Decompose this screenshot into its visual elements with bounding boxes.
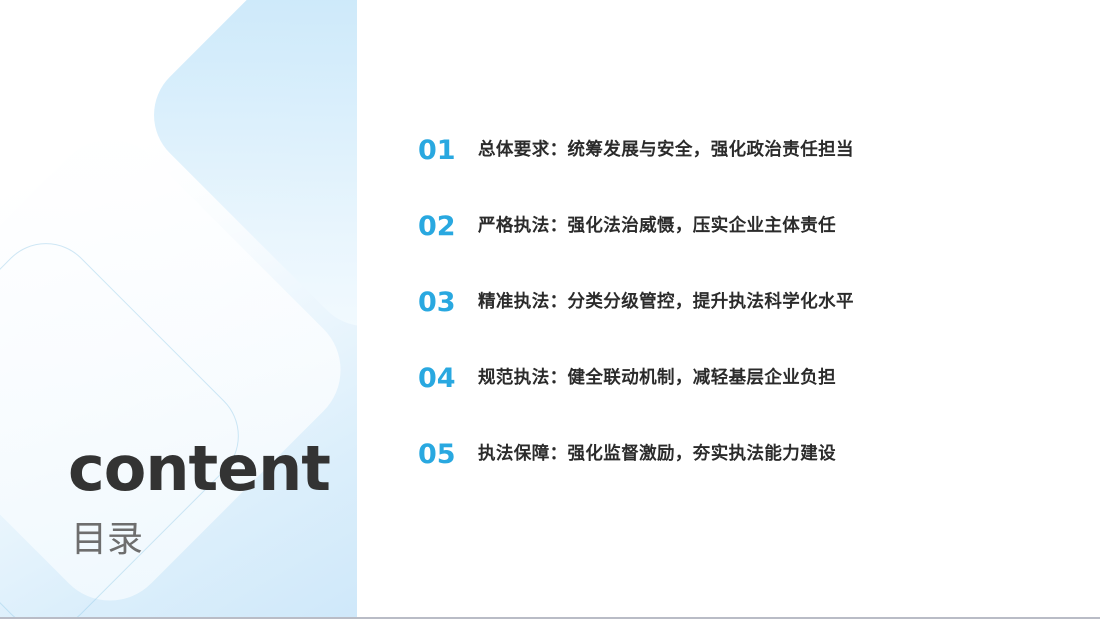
page-subtitle: 目录 bbox=[71, 522, 330, 558]
toc-number: 03 bbox=[418, 289, 478, 316]
toc-label: 规范执法：健全联动机制，减轻基层企业负担 bbox=[478, 368, 836, 389]
page-title: content bbox=[68, 438, 330, 500]
toc-number: 02 bbox=[418, 213, 478, 240]
toc-label: 精准执法：分类分级管控，提升执法科学化水平 bbox=[478, 292, 854, 313]
toc-item-04[interactable]: 04 规范执法：健全联动机制，减轻基层企业负担 bbox=[418, 340, 1038, 416]
left-decorative-panel: content 目录 bbox=[0, 0, 357, 618]
presentation-slide: content 目录 01 总体要求：统筹发展与安全，强化政治责任担当 02 严… bbox=[0, 0, 1100, 622]
table-of-contents: 01 总体要求：统筹发展与安全，强化政治责任担当 02 严格执法：强化法治威慑，… bbox=[418, 112, 1038, 492]
toc-item-03[interactable]: 03 精准执法：分类分级管控，提升执法科学化水平 bbox=[418, 264, 1038, 340]
toc-item-02[interactable]: 02 严格执法：强化法治威慑，压实企业主体责任 bbox=[418, 188, 1038, 264]
toc-item-05[interactable]: 05 执法保障：强化监督激励，夯实执法能力建设 bbox=[418, 416, 1038, 492]
toc-number: 04 bbox=[418, 365, 478, 392]
left-panel-text-block: content 目录 bbox=[68, 438, 330, 558]
toc-label: 严格执法：强化法治威慑，压实企业主体责任 bbox=[478, 216, 836, 237]
toc-item-01[interactable]: 01 总体要求：统筹发展与安全，强化政治责任担当 bbox=[418, 112, 1038, 188]
toc-number: 05 bbox=[418, 441, 478, 468]
toc-number: 01 bbox=[418, 137, 478, 164]
toc-label: 执法保障：强化监督激励，夯实执法能力建设 bbox=[478, 444, 836, 465]
toc-label: 总体要求：统筹发展与安全，强化政治责任担当 bbox=[478, 140, 854, 161]
